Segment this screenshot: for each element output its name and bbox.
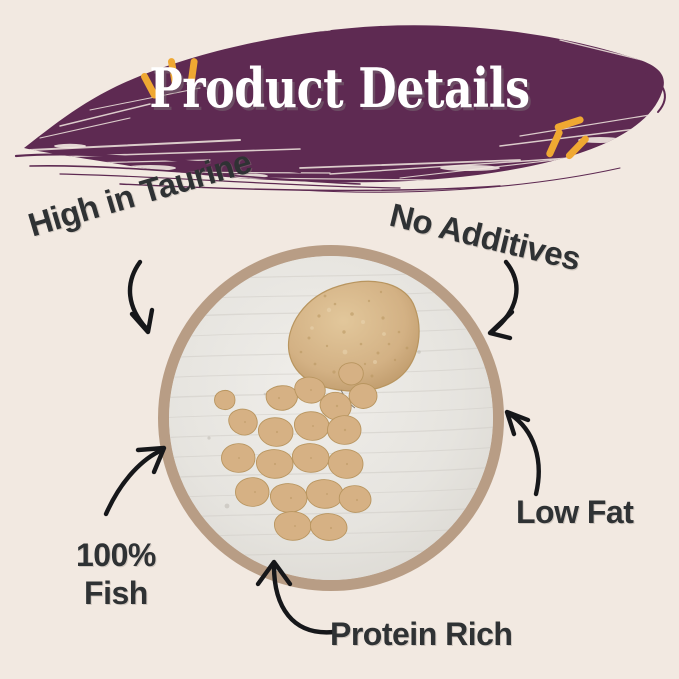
- feature-label-low-fat: Low Fat: [516, 494, 633, 531]
- header-banner: Product Details: [0, 0, 679, 200]
- product-photo-illustration: [169, 256, 493, 580]
- arrow-low-fat: [492, 402, 568, 498]
- arrow-100-fish: [100, 436, 186, 528]
- arrow-high-in-taurine: [118, 258, 198, 344]
- feature-label-100-fish: 100% Fish: [76, 536, 156, 612]
- product-photo-circle: [158, 245, 504, 591]
- product-details-infographic: Product Details: [0, 0, 679, 679]
- arrow-no-additives: [458, 258, 540, 344]
- page-title: Product Details: [61, 58, 618, 118]
- arrow-protein-rich: [240, 552, 340, 638]
- feature-label-protein-rich: Protein Rich: [330, 616, 512, 653]
